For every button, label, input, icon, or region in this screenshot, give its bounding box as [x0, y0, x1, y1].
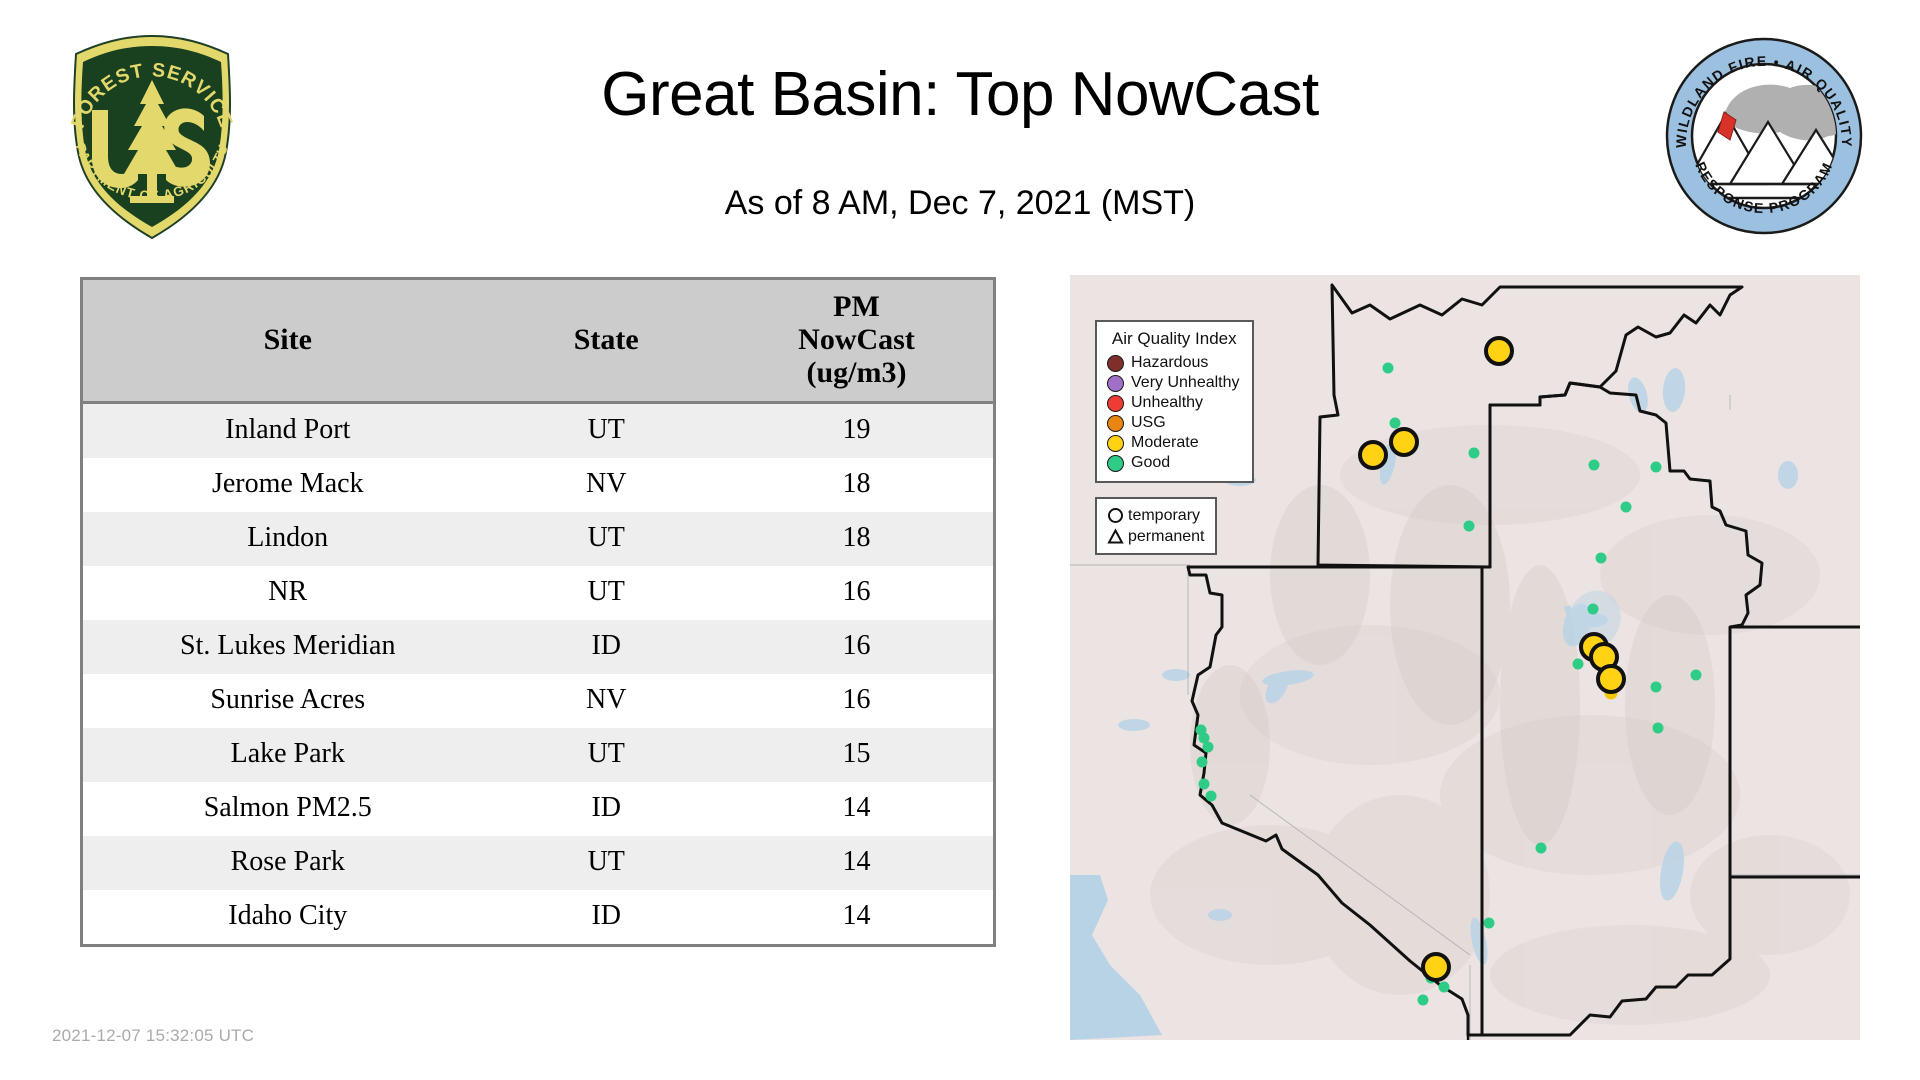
- aqi-color-swatch-icon: [1107, 415, 1124, 432]
- aqi-color-swatch-icon: [1107, 435, 1124, 452]
- cell-site: Inland Port: [83, 403, 493, 459]
- cell-state: UT: [493, 403, 721, 459]
- site-type-permanent: permanent: [1105, 526, 1205, 547]
- column-header-pm-line1: PM: [833, 290, 880, 323]
- monitor-marker-good[interactable]: [1588, 604, 1599, 615]
- column-header-state[interactable]: State: [493, 280, 721, 403]
- table-row[interactable]: Lake ParkUT15: [83, 728, 993, 782]
- aqi-color-swatch-icon: [1107, 355, 1124, 372]
- monitor-marker-good[interactable]: [1206, 791, 1217, 802]
- site-type-permanent-label: permanent: [1128, 528, 1205, 546]
- cell-site: Sunrise Acres: [83, 674, 493, 728]
- table-row[interactable]: St. Lukes MeridianID16: [83, 620, 993, 674]
- monitor-marker-good[interactable]: [1596, 553, 1607, 564]
- aqi-legend: Air Quality Index HazardousVery Unhealth…: [1095, 320, 1254, 483]
- cell-site: Jerome Mack: [83, 458, 493, 512]
- nowcast-table-container: Site State PM NowCast (ug/m3) Inland Por…: [80, 277, 996, 947]
- cell-pm: 14: [720, 836, 993, 890]
- cell-state: ID: [493, 890, 721, 944]
- cell-state: ID: [493, 782, 721, 836]
- cell-pm: 16: [720, 674, 993, 728]
- permanent-triangle-icon: [1105, 528, 1125, 545]
- cell-pm: 16: [720, 620, 993, 674]
- table-row[interactable]: Jerome MackNV18: [83, 458, 993, 512]
- monitor-marker-good[interactable]: [1651, 462, 1662, 473]
- cell-state: UT: [493, 512, 721, 566]
- aqi-legend-label: Unhealthy: [1131, 394, 1203, 412]
- monitor-marker-good[interactable]: [1464, 521, 1475, 532]
- aqi-legend-item: Unhealthy: [1107, 393, 1240, 413]
- table-row[interactable]: Inland PortUT19: [83, 403, 993, 459]
- monitor-marker-good[interactable]: [1469, 448, 1480, 459]
- monitor-marker-good[interactable]: [1589, 460, 1600, 471]
- monitor-marker-good[interactable]: [1653, 723, 1664, 734]
- table-row[interactable]: Idaho CityID14: [83, 890, 993, 944]
- aqi-legend-item: Very Unhealthy: [1107, 373, 1240, 393]
- aqi-color-swatch-icon: [1107, 375, 1124, 392]
- aqi-legend-label: Very Unhealthy: [1131, 374, 1240, 392]
- aqi-color-swatch-icon: [1107, 455, 1124, 472]
- monitor-marker-moderate[interactable]: [1484, 336, 1514, 366]
- cell-pm: 14: [720, 782, 993, 836]
- monitor-marker-moderate[interactable]: [1421, 952, 1451, 982]
- site-type-temporary: temporary: [1105, 505, 1205, 526]
- site-type-temporary-label: temporary: [1128, 507, 1200, 525]
- cell-site: Idaho City: [83, 890, 493, 944]
- aqi-legend-label: Hazardous: [1131, 354, 1208, 372]
- cell-state: UT: [493, 566, 721, 620]
- aqi-legend-item: USG: [1107, 413, 1240, 433]
- nowcast-table: Site State PM NowCast (ug/m3) Inland Por…: [83, 280, 993, 944]
- cell-pm: 18: [720, 512, 993, 566]
- cell-site: NR: [83, 566, 493, 620]
- table-header: Site State PM NowCast (ug/m3): [83, 280, 993, 403]
- monitor-marker-good[interactable]: [1573, 659, 1584, 670]
- aqi-legend-item: Hazardous: [1107, 353, 1240, 373]
- aqi-legend-label: Moderate: [1131, 434, 1199, 452]
- cell-site: Lindon: [83, 512, 493, 566]
- cell-site: St. Lukes Meridian: [83, 620, 493, 674]
- generation-timestamp: 2021-12-07 15:32:05 UTC: [52, 1026, 254, 1046]
- aqi-legend-item: Moderate: [1107, 433, 1240, 453]
- table-row[interactable]: Salmon PM2.5ID14: [83, 782, 993, 836]
- table-row[interactable]: Sunrise AcresNV16: [83, 674, 993, 728]
- cell-pm: 15: [720, 728, 993, 782]
- table-body: Inland PortUT19Jerome MackNV18LindonUT18…: [83, 403, 993, 945]
- monitor-marker-good[interactable]: [1203, 742, 1214, 753]
- monitor-marker-good[interactable]: [1691, 670, 1702, 681]
- monitor-marker-good[interactable]: [1621, 502, 1632, 513]
- table-row[interactable]: LindonUT18: [83, 512, 993, 566]
- monitor-marker-good[interactable]: [1197, 757, 1208, 768]
- monitor-marker-good[interactable]: [1199, 779, 1210, 790]
- table-row[interactable]: Rose ParkUT14: [83, 836, 993, 890]
- monitor-marker-moderate[interactable]: [1389, 427, 1419, 457]
- monitor-marker-good[interactable]: [1536, 843, 1547, 854]
- site-type-legend: temporary permanent: [1095, 497, 1217, 555]
- cell-pm: 16: [720, 566, 993, 620]
- aqi-color-swatch-icon: [1107, 395, 1124, 412]
- cell-state: ID: [493, 620, 721, 674]
- column-header-pm-line2: NowCast: [798, 323, 915, 356]
- monitor-marker-moderate[interactable]: [1358, 440, 1388, 470]
- column-header-pm-nowcast[interactable]: PM NowCast (ug/m3): [720, 280, 993, 403]
- cell-state: UT: [493, 728, 721, 782]
- cell-state: UT: [493, 836, 721, 890]
- column-header-pm-line3: (ug/m3): [807, 356, 907, 389]
- cell-pm: 18: [720, 458, 993, 512]
- cell-site: Lake Park: [83, 728, 493, 782]
- cell-site: Rose Park: [83, 836, 493, 890]
- cell-pm: 14: [720, 890, 993, 944]
- monitor-marker-good[interactable]: [1383, 363, 1394, 374]
- cell-pm: 19: [720, 403, 993, 459]
- table-row[interactable]: NRUT16: [83, 566, 993, 620]
- monitor-marker-good[interactable]: [1439, 982, 1450, 993]
- cell-state: NV: [493, 674, 721, 728]
- monitor-marker-moderate[interactable]: [1596, 664, 1626, 694]
- page-title: Great Basin: Top NowCast: [0, 58, 1920, 132]
- air-quality-map[interactable]: Air Quality Index HazardousVery Unhealth…: [1070, 275, 1860, 1040]
- aqi-legend-title: Air Quality Index: [1109, 329, 1240, 349]
- aqi-legend-label: USG: [1131, 414, 1166, 432]
- temporary-circle-icon: [1105, 507, 1125, 524]
- cell-state: NV: [493, 458, 721, 512]
- column-header-site[interactable]: Site: [83, 280, 493, 403]
- cell-site: Salmon PM2.5: [83, 782, 493, 836]
- aqi-legend-label: Good: [1131, 454, 1170, 472]
- page-subtitle: As of 8 AM, Dec 7, 2021 (MST): [0, 182, 1920, 224]
- monitor-marker-good[interactable]: [1484, 918, 1495, 929]
- monitor-marker-good[interactable]: [1651, 682, 1662, 693]
- monitor-marker-good[interactable]: [1418, 995, 1429, 1006]
- table-header-row: Site State PM NowCast (ug/m3): [83, 280, 993, 403]
- aqi-legend-item: Good: [1107, 453, 1240, 473]
